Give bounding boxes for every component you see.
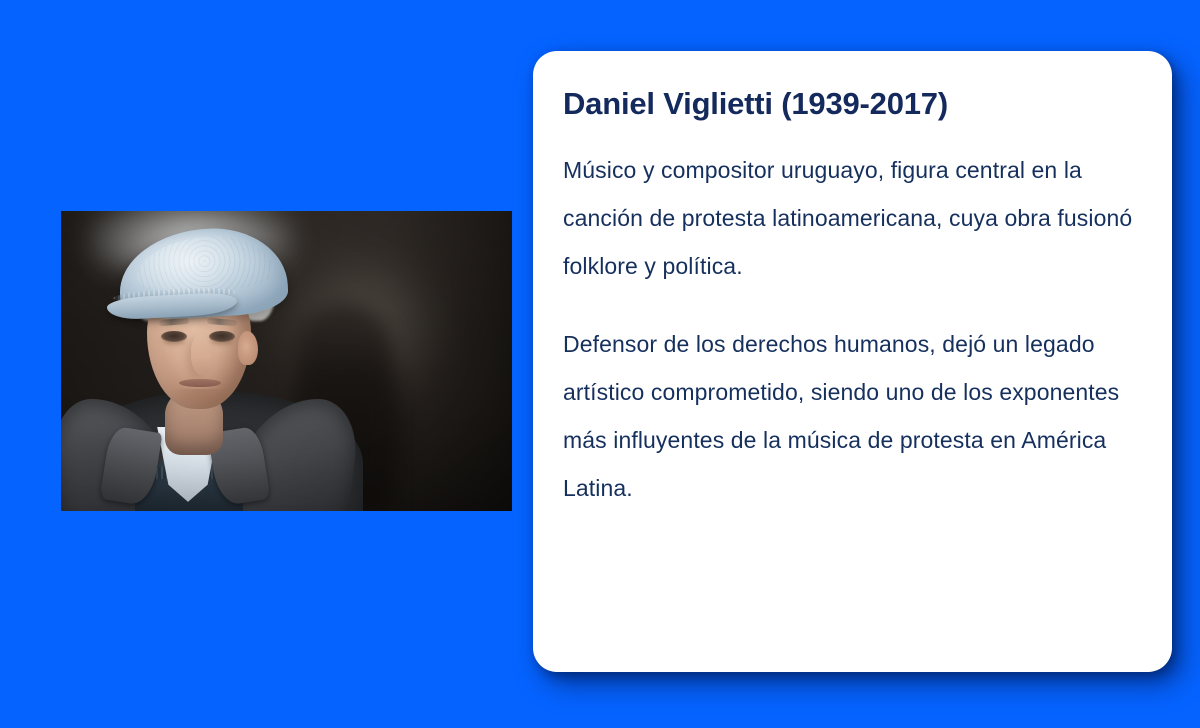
photo-eyebrow-right <box>207 318 237 327</box>
photo-ear <box>238 331 258 365</box>
photo-chin-shadow <box>171 389 229 407</box>
photo-eyebrow-left <box>159 318 189 327</box>
photo-nose <box>191 335 211 375</box>
card-title: Daniel Viglietti (1939-2017) <box>563 85 1140 124</box>
photo-eye-left <box>161 331 187 342</box>
photo-eye-right <box>209 331 235 342</box>
portrait-photo <box>61 211 512 511</box>
card-paragraph-1: Músico y compositor uruguayo, figura cen… <box>563 146 1140 290</box>
card-paragraph-2: Defensor de los derechos humanos, dejó u… <box>563 320 1140 512</box>
photo-mouth <box>179 379 221 387</box>
photo-person <box>61 211 512 511</box>
info-card: Daniel Viglietti (1939-2017) Músico y co… <box>533 51 1172 672</box>
page-background: Daniel Viglietti (1939-2017) Músico y co… <box>0 0 1200 728</box>
